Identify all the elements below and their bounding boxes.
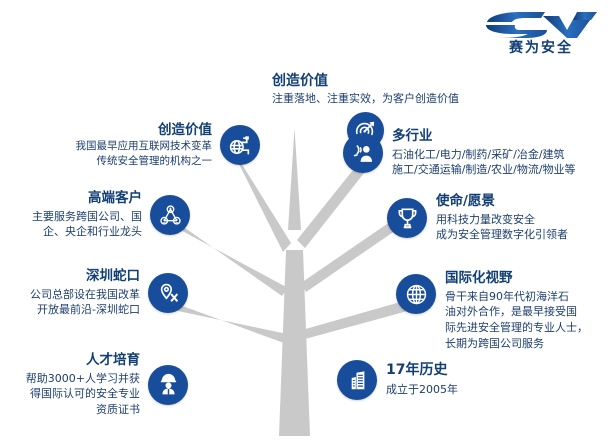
node-left-internet[interactable]: 创造价值 我国最早应用互联网技术变革 传统安全管理的机构之一 — [28, 122, 260, 169]
node-left-customers[interactable]: 高端客户 主要服务跨国公司、国 企、央企和行业龙头 — [18, 190, 190, 240]
node-text: 17年历史 成立于2005年 — [386, 362, 458, 398]
node-line: 主要服务跨国公司、国 — [32, 209, 142, 225]
brand-name-cn: 赛为安全 — [478, 41, 604, 56]
node-title: 创造价值 — [76, 122, 213, 139]
node-right-history[interactable]: 17年历史 成立于2005年 — [337, 360, 458, 400]
node-title: 使命/愿景 — [436, 193, 568, 210]
infographic-canvas: 赛为安全 创造价值 注重落地、注重实效，为客户创造价值 创造价值 我国最早应用互… — [0, 0, 616, 445]
node-text: 深圳蛇口 公司总部设在我国改革 开放最前沿-深圳蛇口 — [30, 268, 140, 318]
worker-helmet-icon[interactable] — [148, 365, 188, 405]
node-right-industries[interactable]: 多行业 石油化工/电力/制药/采矿/冶金/建筑 施工/交通运输/制造/农业/物流… — [343, 128, 576, 178]
node-line: 开放最前沿-深圳蛇口 — [30, 302, 140, 318]
node-line: 企、央企和行业龙头 — [32, 224, 142, 240]
node-line: 帮助3000+人学习并获 — [26, 371, 140, 387]
node-line: 用科技力量改变安全 — [436, 212, 568, 228]
node-text: 高端客户 主要服务跨国公司、国 企、央企和行业龙头 — [32, 190, 142, 240]
node-right-global[interactable]: 国际化视野 骨干来自90年代初海洋石 油对外合作，是最早接受国 际先进安全管理的… — [396, 270, 588, 351]
node-line: 资质证书 — [26, 402, 140, 418]
tree-trunk — [279, 250, 310, 436]
node-left-shekou[interactable]: 深圳蛇口 公司总部设在我国改革 开放最前沿-深圳蛇口 — [12, 268, 188, 318]
node-right-mission[interactable]: 使命/愿景 用科技力量改变安全 成为安全管理数字化引领者 — [387, 193, 568, 243]
node-line: 石油化工/电力/制药/采矿/冶金/建筑 — [392, 147, 576, 163]
node-title: 深圳蛇口 — [30, 268, 140, 285]
building-icon[interactable] — [337, 360, 377, 400]
node-title: 高端客户 — [32, 190, 142, 207]
node-line: 际先进安全管理的专业人士， — [445, 320, 588, 336]
node-title: 创造价值 — [272, 73, 459, 91]
node-line: 成立于2005年 — [386, 382, 458, 398]
node-title: 多行业 — [392, 128, 576, 145]
node-title: 17年历史 — [386, 362, 458, 380]
map-pin-icon[interactable] — [148, 273, 188, 313]
node-text: 创造价值 我国最早应用互联网技术变革 传统安全管理的机构之一 — [76, 122, 213, 169]
node-line: 我国最早应用互联网技术变革 — [76, 139, 213, 154]
node-line: 骨干来自90年代初海洋石 — [445, 289, 588, 305]
people-network-icon[interactable] — [150, 195, 190, 235]
node-text: 国际化视野 骨干来自90年代初海洋石 油对外合作，是最早接受国 际先进安全管理的… — [445, 270, 588, 351]
node-text: 多行业 石油化工/电力/制药/采矿/冶金/建筑 施工/交通运输/制造/农业/物流… — [392, 128, 576, 178]
node-line: 施工/交通运输/制造/农业/物流/物业等 — [392, 162, 576, 178]
node-left-talent[interactable]: 人才培育 帮助3000+人学习并获 得国际认可的安全专业 资质证书 — [12, 352, 188, 418]
globe-network-icon[interactable] — [220, 125, 260, 165]
brand-logo: 赛为安全 — [478, 8, 604, 64]
node-line: 传统安全管理的机构之一 — [76, 154, 213, 169]
globe-grid-icon[interactable] — [396, 274, 436, 314]
trophy-icon[interactable] — [387, 198, 427, 238]
node-text: 人才培育 帮助3000+人学习并获 得国际认可的安全专业 资质证书 — [26, 352, 140, 418]
node-line: 注重落地、注重实效，为客户创造价值 — [272, 91, 459, 107]
node-line: 油对外合作，是最早接受国 — [445, 304, 588, 320]
node-line: 成为安全管理数字化引领者 — [436, 227, 568, 243]
node-text: 使命/愿景 用科技力量改变安全 成为安全管理数字化引领者 — [436, 193, 568, 243]
node-title: 人才培育 — [26, 352, 140, 369]
branch-upper-left — [236, 158, 291, 252]
node-title: 国际化视野 — [445, 270, 588, 287]
node-text: 创造价值 注重落地、注重实效，为客户创造价值 — [272, 73, 459, 106]
node-line: 长期为跨国公司服务 — [445, 336, 588, 352]
sw-logo-icon — [481, 8, 601, 42]
node-line: 得国际认可的安全专业 — [26, 386, 140, 402]
two-people-icon[interactable] — [343, 133, 383, 173]
node-line: 公司总部设在我国改革 — [30, 287, 140, 303]
